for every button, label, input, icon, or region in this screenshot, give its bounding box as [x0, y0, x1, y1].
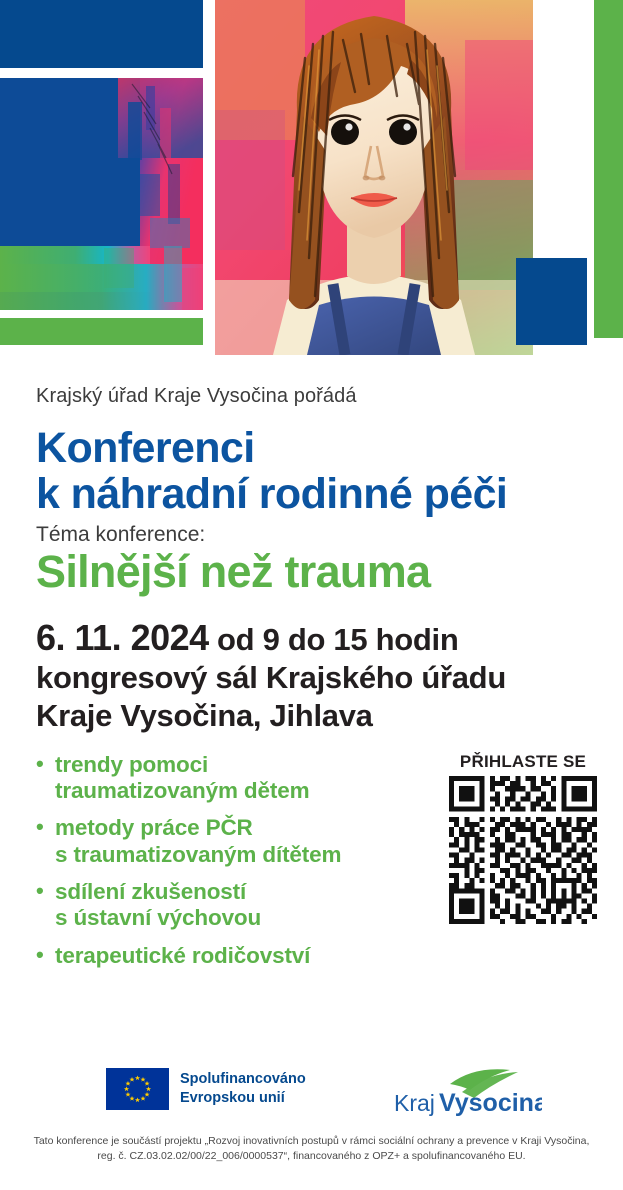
- list-item: metody práce PČR s traumatizovaným dítět…: [36, 815, 436, 868]
- event-date: 6. 11. 2024: [36, 617, 209, 658]
- project-disclaimer: Tato konference je součástí projektu „Ro…: [0, 1134, 623, 1164]
- svg-text:Kraj: Kraj: [394, 1090, 435, 1116]
- organizer-line: Krajský úřad Kraje Vysočina pořádá: [36, 385, 623, 408]
- green-color-bar: [0, 318, 203, 345]
- qr-code-icon[interactable]: [449, 776, 597, 924]
- registration-title: PŘIHLASTE SE: [443, 752, 603, 772]
- topic-title: Silnější než trauma: [36, 548, 623, 596]
- green-color-strip-right: [594, 0, 623, 338]
- event-datetime-line: 6. 11. 2024 od 9 do 15 hodin: [36, 616, 623, 659]
- eu-cofunding-label: Spolufinancováno Evropskou unií: [180, 1070, 306, 1107]
- blue-color-block-right: [516, 258, 587, 345]
- blue-color-block-top: [0, 0, 203, 68]
- list-item: trendy pomoci traumatizovaným dětem: [36, 752, 436, 805]
- portrait-graphic: [215, 0, 533, 355]
- venue-line-1: kongresový sál Krajského úřadu: [36, 659, 623, 696]
- logo-row: Spolufinancováno Evropskou unií Kraj Vys…: [0, 1060, 623, 1132]
- painted-girl-portrait: [215, 0, 533, 355]
- conference-title-line-1: Konferenci: [36, 425, 623, 471]
- event-details: 6. 11. 2024 od 9 do 15 hodin kongresový …: [36, 616, 623, 734]
- list-item: terapeutické rodičovství: [36, 943, 436, 969]
- poster-footer: Spolufinancováno Evropskou unií Kraj Vys…: [0, 1060, 623, 1164]
- paint-swatch-graphic: [0, 78, 203, 310]
- kraj-vysocina-logo: Kraj Vysocina: [392, 1064, 542, 1116]
- conference-title: Konferenci k náhradní rodinné péči: [36, 425, 623, 517]
- european-union-flag-icon: [106, 1068, 169, 1110]
- svg-text:Vysocina: Vysocina: [439, 1089, 542, 1116]
- registration-block[interactable]: PŘIHLASTE SE: [443, 752, 603, 924]
- event-time: od 9 do 15 hodin: [209, 622, 459, 657]
- eu-cofunding-logo: Spolufinancováno Evropskou unií: [106, 1068, 306, 1110]
- hero-collage: [0, 0, 623, 355]
- list-item: sdílení zkušeností s ústavní výchovou: [36, 879, 436, 932]
- disclaimer-line-2: reg. č. CZ.03.02.02/00/22_006/0000537“, …: [14, 1149, 609, 1164]
- abstract-paint-swatch: [0, 78, 203, 310]
- conference-title-line-2: k náhradní rodinné péči: [36, 471, 623, 517]
- disclaimer-line-1: Tato konference je součástí projektu „Ro…: [14, 1134, 609, 1149]
- topic-bullet-list: trendy pomoci traumatizovaným dětem meto…: [36, 752, 436, 980]
- topic-label: Téma konference:: [36, 523, 623, 547]
- poster-content: Krajský úřad Kraje Vysočina pořádá Konfe…: [0, 355, 623, 967]
- topics-and-registration: trendy pomoci traumatizovaným dětem meto…: [0, 752, 623, 967]
- venue-line-2: Kraje Vysočina, Jihlava: [36, 697, 623, 734]
